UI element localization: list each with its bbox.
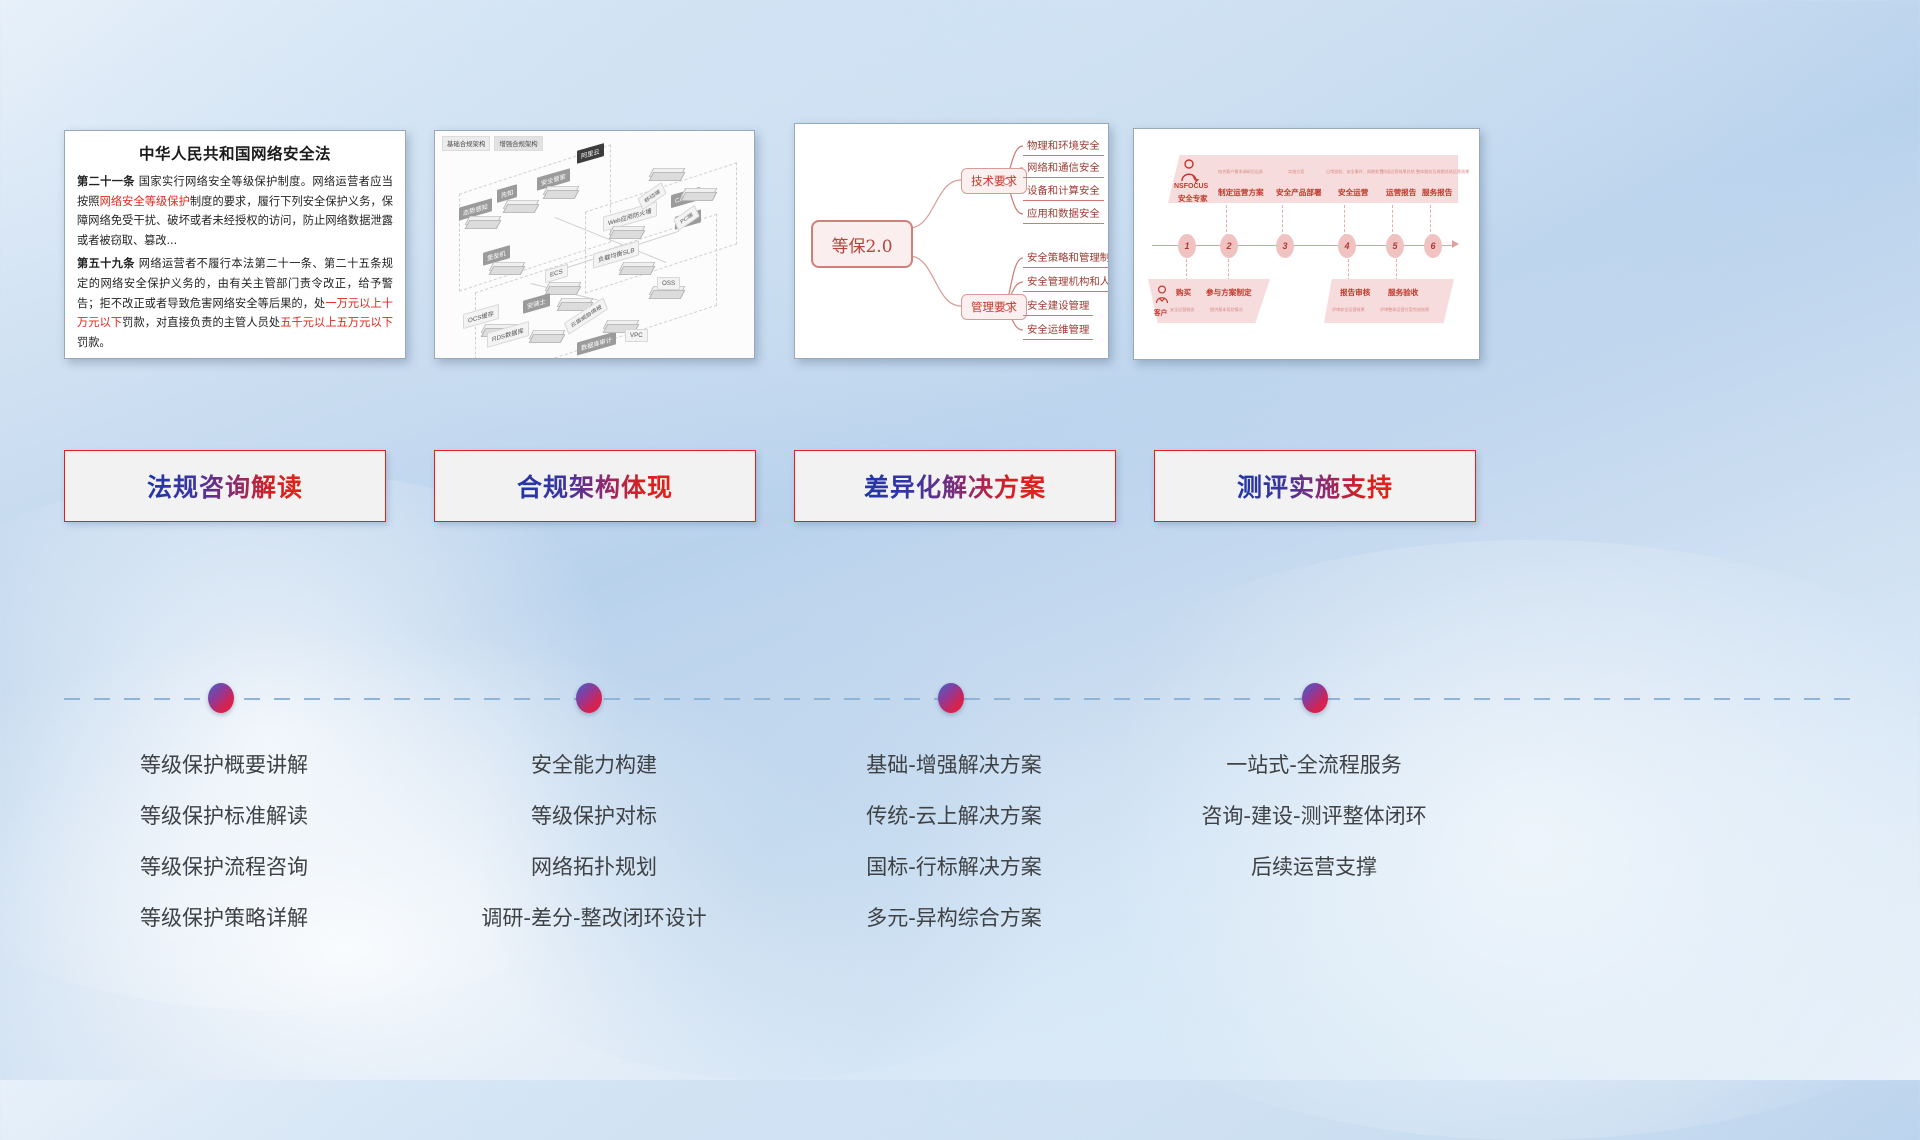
heading-box-differentiated-solution[interactable]: 差异化解决方案 (794, 450, 1116, 522)
step-number-4[interactable]: 4 (1338, 234, 1356, 258)
dash-connector-5 (1430, 205, 1431, 237)
list-item: 等级保护概要讲解 (64, 740, 384, 791)
expert-label-line1: NSFOCUS (1174, 183, 1208, 190)
dash-connector-6 (1186, 259, 1187, 281)
mindmap-leaf-org-personnel: 安全管理机构和人员 (1023, 272, 1109, 292)
bottom-step-1-sub: 安全运营服务 (1170, 307, 1195, 313)
flow-banner-bottom-right (1324, 279, 1454, 323)
bottom-step-4-title: 服务验收 (1388, 287, 1418, 298)
list-item: 多元-异构综合方案 (794, 893, 1114, 944)
heading-box-regulation-consulting[interactable]: 法规咨询解读 (64, 450, 386, 522)
top-step-4-title: 运营报告 (1386, 187, 1416, 198)
step-number-2[interactable]: 2 (1220, 234, 1238, 258)
node-vpc: VPC (625, 329, 648, 342)
mindmap-dot-technical (1003, 178, 1010, 185)
service-flow-diagram: NSFOCUS 安全专家 结合客户需求调研后出具 制定运营方案 实施方案 安全产… (1134, 129, 1479, 359)
flow-axis-arrowhead (1452, 240, 1459, 248)
mindmap-branch-management[interactable]: 管理要求 (961, 294, 1027, 320)
mindmap-leaf-ops-mgmt: 安全运维管理 (1023, 320, 1093, 340)
card-cybersecurity-law[interactable]: 中华人民共和国网络安全法 第二十一条 国家实行网络安全等级保护制度。网络运营者应… (64, 130, 406, 359)
dash-connector-9 (1396, 259, 1397, 281)
mindmap-branch-technical[interactable]: 技术要求 (961, 168, 1027, 194)
customer-label: 客户 (1154, 307, 1167, 317)
heading-box-assessment-support[interactable]: 测评实施支持 (1154, 450, 1476, 522)
dash-connector-1 (1226, 205, 1227, 237)
list-item: 国标-行标解决方案 (794, 842, 1114, 893)
preview-cards-row: 中华人民共和国网络安全法 第二十一条 国家实行网络安全等级保护制度。网络运营者应… (0, 0, 1920, 440)
article-21-highlight: 网络安全等级保护 (100, 195, 190, 208)
list-column-3: 基础-增强解决方案 传统-云上解决方案 国标-行标解决方案 多元-异构综合方案 (794, 740, 1114, 944)
top-step-3-title: 安全运营 (1338, 187, 1368, 198)
customer-person-icon (1154, 285, 1170, 305)
list-item: 基础-增强解决方案 (794, 740, 1114, 791)
server-icon-bastion (491, 259, 521, 277)
card-service-flow[interactable]: NSFOCUS 安全专家 结合客户需求调研后出具 制定运营方案 实施方案 安全产… (1133, 128, 1480, 360)
architecture-diagram: 基础合规架构 增强合规架构 阿里云 安全管家 先知 态势感知 堡垒机 ECS 安… (435, 131, 754, 358)
top-step-3-sub: 日常巡检、安全事件、周期处置 (1326, 169, 1383, 175)
list-item: 网络拓扑规划 (434, 842, 754, 893)
step-number-6[interactable]: 6 (1424, 234, 1442, 258)
mindmap-leaf-construction-mgmt: 安全建设管理 (1023, 296, 1093, 316)
law-article-21: 第二十一条 国家实行网络安全等级保护制度。网络运营者应当按照网络安全等级保护制度… (77, 172, 393, 250)
tab-basic-architecture[interactable]: 基础合规架构 (442, 136, 490, 151)
mindmap-leaf-policy-system: 安全策略和管理制度 (1023, 248, 1109, 268)
bottom-step-4-sub: 评审整体运营方案完成效果 (1380, 307, 1429, 313)
top-step-2-sub: 实施方案 (1288, 169, 1304, 175)
law-card-title: 中华人民共和国网络安全法 (77, 142, 393, 164)
article-21-label: 第二十一条 (77, 175, 135, 188)
step-number-3[interactable]: 3 (1276, 234, 1294, 258)
card-compliance-architecture[interactable]: 基础合规架构 增强合规架构 阿里云 安全管家 先知 态势感知 堡垒机 ECS 安… (434, 130, 755, 359)
server-icon-rds (531, 327, 561, 345)
article-59-text-3: 罚款。 (77, 336, 111, 349)
top-step-4-sub: 阶段运营效果总结 (1382, 169, 1415, 175)
heading-label-1: 法规咨询解读 (147, 468, 303, 504)
article-59-label: 第五十九条 (77, 257, 135, 270)
list-item: 等级保护流程咨询 (64, 842, 384, 893)
list-item: 调研-差分-整改闭环设计 (434, 893, 754, 944)
dash-connector-3 (1344, 205, 1345, 237)
dash-connector-7 (1228, 259, 1229, 281)
heading-label-3: 差异化解决方案 (864, 468, 1046, 504)
bottom-step-1-title: 购买 (1176, 287, 1191, 298)
list-item: 等级保护策略详解 (64, 893, 384, 944)
list-item: 等级保护标准解读 (64, 791, 384, 842)
bottom-step-2-sub: 提供基本现状情况 (1210, 307, 1243, 313)
server-icon-mobile (651, 165, 681, 183)
card-dengbao-mindmap[interactable]: 等保2.0 技术要求 物理和环境安全 网络和通信安全 设备和计算安全 应用和数据… (794, 123, 1109, 359)
architecture-tabs: 基础合规架构 增强合规架构 (442, 136, 543, 151)
bottom-step-3-sub: 评审安全运营效果 (1332, 307, 1365, 313)
server-icon-waf (611, 223, 641, 241)
tab-enhanced-architecture[interactable]: 增强合规架构 (494, 136, 542, 151)
dash-connector-2 (1282, 205, 1283, 237)
bottom-step-3-title: 报告审核 (1340, 287, 1370, 298)
server-icon-butler (545, 183, 575, 201)
list-column-1: 等级保护概要讲解 等级保护标准解读 等级保护流程咨询 等级保护策略详解 (64, 740, 384, 944)
heading-box-compliance-architecture[interactable]: 合规架构体现 (434, 450, 756, 522)
mindmap-leaf-network-communication: 网络和通信安全 (1023, 158, 1104, 178)
top-step-2-title: 安全产品部署 (1276, 187, 1322, 198)
top-step-1-title: 制定运营方案 (1218, 187, 1264, 198)
article-59-highlight-2: 五千元以上五万元以下 (280, 316, 393, 329)
server-icon-xianzhi (505, 197, 535, 215)
heading-label-2: 合规架构体现 (517, 468, 673, 504)
mindmap-leaf-device-computing: 设备和计算安全 (1023, 181, 1104, 201)
article-59-text-2: 罚款，对直接负责的主管人员处 (122, 316, 280, 329)
server-icon-sa (467, 213, 497, 231)
list-column-2: 安全能力构建 等级保护对标 网络拓扑规划 调研-差分-整改闭环设计 (434, 740, 754, 944)
list-item: 传统-云上解决方案 (794, 791, 1114, 842)
step-number-1[interactable]: 1 (1178, 234, 1196, 258)
list-item: 安全能力构建 (434, 740, 754, 791)
list-column-4: 一站式-全流程服务 咨询-建设-测评整体闭环 后续运营支撑 (1154, 740, 1474, 893)
mindmap-leaf-physical-environment: 物理和环境安全 (1023, 136, 1104, 156)
server-icon-slb (621, 259, 651, 277)
list-item: 等级保护对标 (434, 791, 754, 842)
step-number-5[interactable]: 5 (1386, 234, 1404, 258)
dash-connector-8 (1348, 259, 1349, 281)
list-item: 一站式-全流程服务 (1154, 740, 1474, 791)
mindmap-leaf-application-data: 应用和数据安全 (1023, 204, 1104, 224)
top-step-5-title: 服务报告 (1422, 187, 1452, 198)
law-article-59: 第五十九条 网络运营者不履行本法第二十一条、第二十五条规定的网络安全保护义务的，… (77, 254, 393, 352)
server-icon-pc (683, 185, 713, 203)
timeline-dot-4[interactable] (1302, 683, 1328, 713)
flow-axis-line (1152, 245, 1454, 246)
top-step-1-sub: 结合客户需求调研后出具 (1218, 169, 1263, 175)
timeline-dot-2[interactable] (576, 683, 602, 713)
timeline-dot-1[interactable] (208, 683, 234, 713)
list-item: 咨询-建设-测评整体闭环 (1154, 791, 1474, 842)
bottom-step-2-title: 参与方案制定 (1206, 287, 1252, 298)
mindmap: 等保2.0 技术要求 物理和环境安全 网络和通信安全 设备和计算安全 应用和数据… (795, 124, 1108, 358)
heading-label-4: 测评实施支持 (1237, 468, 1393, 504)
mindmap-dot-management (1003, 304, 1010, 311)
list-item: 后续运营支撑 (1154, 842, 1474, 893)
dash-connector-4 (1392, 205, 1393, 237)
expert-label-line2: 安全专家 (1178, 193, 1208, 204)
top-step-5-sub: 整体服务及周期总结运营效果 (1416, 169, 1469, 175)
mindmap-root-node[interactable]: 等保2.0 (811, 220, 913, 268)
node-oss: OSS (657, 277, 680, 290)
expert-person-icon (1178, 159, 1200, 183)
timeline-dot-3[interactable] (938, 683, 964, 713)
